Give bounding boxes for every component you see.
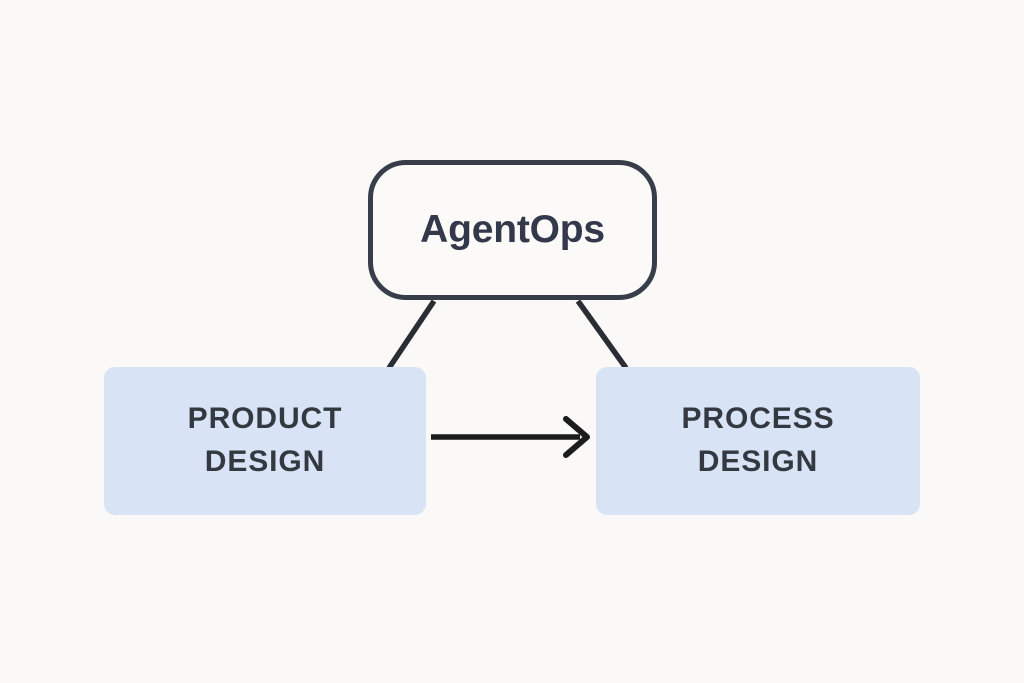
arrow-product-to-process-head-icon	[566, 419, 587, 455]
node-product-design[interactable]: PRODUCT DESIGN	[104, 367, 426, 515]
node-agentops-label: AgentOps	[420, 209, 605, 252]
diagram-canvas: AgentOps PRODUCT DESIGN PROCESS DESIGN	[0, 0, 1024, 683]
node-agentops[interactable]: AgentOps	[368, 160, 657, 300]
connector-agentops-to-process-design	[578, 301, 626, 368]
node-product-design-label: PRODUCT DESIGN	[188, 398, 343, 483]
connector-layer	[0, 0, 1024, 683]
connector-agentops-to-product-design	[389, 301, 434, 368]
node-process-design-label: PROCESS DESIGN	[681, 398, 834, 483]
node-process-design[interactable]: PROCESS DESIGN	[596, 367, 920, 515]
